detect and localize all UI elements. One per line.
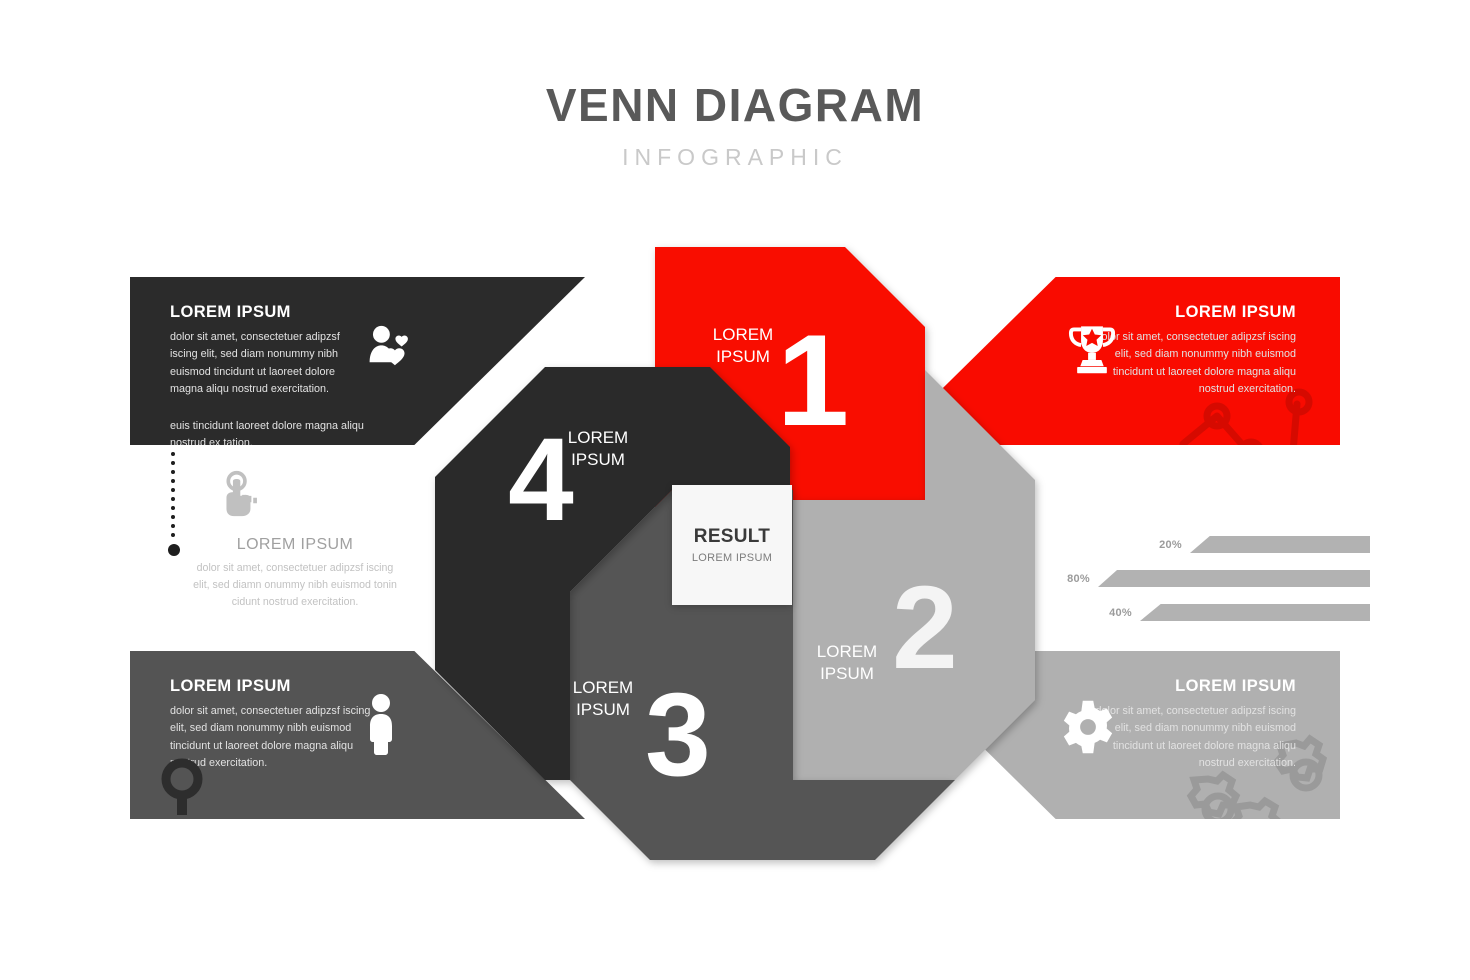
segment-label-1: LOREM IPSUM [713, 325, 773, 366]
mid-left-body: dolor sit amet, consectetuer adipzsf isc… [190, 560, 400, 611]
bar-row-2: 80% [1067, 570, 1370, 587]
panel-bottom-left-heading: LOREM IPSUM [170, 677, 375, 696]
bar-row-3: 40% [1109, 604, 1370, 621]
panel-top-left-text: LOREM IPSUM dolor sit amet, consectetuer… [170, 303, 370, 445]
bar-row-1: 20% [1159, 536, 1370, 553]
magnifier-icon [160, 758, 206, 816]
result-box[interactable]: RESULT LOREM IPSUM [672, 485, 792, 605]
panel-top-left-heading: LOREM IPSUM [170, 303, 370, 322]
panel-top-right-heading: LOREM IPSUM [1091, 303, 1296, 322]
panel-bottom-right-heading: LOREM IPSUM [1091, 677, 1296, 696]
panel-top-right-text: LOREM IPSUM dolor sit amet, consectetuer… [1091, 303, 1296, 399]
gear-icon [1060, 699, 1116, 755]
bar-label-2: 80% [1067, 573, 1090, 585]
touch-click-icon [220, 470, 268, 518]
bar-shape-2 [1098, 570, 1370, 587]
bar-label-3: 40% [1109, 607, 1132, 619]
panel-top-right-body: dolor sit amet, consectetuer adipzsf isc… [1091, 329, 1296, 399]
person-icon [365, 693, 397, 755]
svg-text:LOREM: LOREM [713, 325, 773, 344]
result-subtitle: LOREM IPSUM [692, 552, 772, 564]
segment-label-2: LOREM IPSUM [817, 642, 877, 683]
user-heart-icon [362, 320, 416, 374]
infographic-canvas: VENN DIAGRAM INFOGRAPHIC LOREM IPSUM dol… [0, 0, 1470, 980]
trophy-icon [1067, 319, 1117, 379]
svg-text:IPSUM: IPSUM [716, 347, 770, 366]
svg-text:1: 1 [777, 307, 849, 453]
bar-shape-3 [1140, 604, 1370, 621]
panel-top-right[interactable]: LOREM IPSUM dolor sit amet, consectetuer… [885, 277, 1340, 445]
bar-shape-1 [1190, 536, 1370, 553]
percentage-bar-chart: 20% 80% 40% [1080, 530, 1370, 630]
panel-top-left-body2: euis tincidunt laoreet dolore magna aliq… [170, 418, 370, 445]
mid-left-text: LOREM IPSUM dolor sit amet, consectetuer… [190, 536, 400, 611]
page-title: VENN DIAGRAM [0, 82, 1470, 128]
page-subtitle: INFOGRAPHIC [0, 144, 1470, 171]
result-title: RESULT [694, 526, 770, 548]
panel-bottom-right-body: dolor sit amet, consectetuer adipzsf isc… [1091, 703, 1296, 773]
dotted-connector [168, 452, 180, 560]
page-title-block: VENN DIAGRAM INFOGRAPHIC [0, 82, 1470, 171]
panel-bottom-right[interactable]: LOREM IPSUM dolor sit amet, consectetuer… [885, 651, 1340, 819]
panel-bottom-right-text: LOREM IPSUM dolor sit amet, consectetuer… [1091, 677, 1296, 773]
bar-label-1: 20% [1159, 539, 1182, 551]
svg-text:IPSUM: IPSUM [571, 450, 625, 469]
segment-number-3: 3 [645, 669, 711, 801]
svg-text:IPSUM: IPSUM [820, 664, 874, 683]
panel-top-left-body: dolor sit amet, consectetuer adipzsf isc… [170, 329, 370, 399]
svg-text:LOREM: LOREM [817, 642, 877, 661]
panel-top-left[interactable]: LOREM IPSUM dolor sit amet, consectetuer… [130, 277, 585, 445]
mid-left-heading: LOREM IPSUM [190, 536, 400, 554]
svg-text:3: 3 [645, 669, 711, 801]
segment-number-1: 1 [777, 307, 849, 453]
